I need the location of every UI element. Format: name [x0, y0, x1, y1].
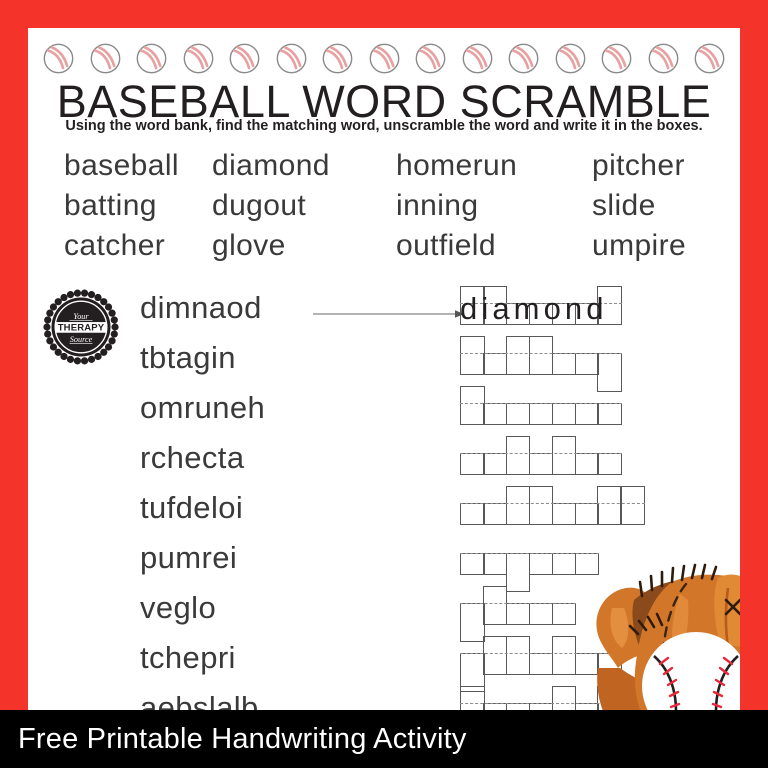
- baseball-icon: [554, 42, 587, 75]
- answer-letter-box[interactable]: [552, 503, 577, 525]
- answer-letter-box[interactable]: [552, 403, 577, 425]
- baseball-icon: [89, 42, 122, 75]
- word-bank-word: homerun: [396, 146, 564, 186]
- answer-boxes[interactable]: [460, 486, 645, 536]
- baseball-icon: [368, 42, 401, 75]
- baseball-icon: [42, 42, 75, 75]
- baseball-icon: [89, 42, 122, 75]
- baseball-icon: [321, 42, 354, 75]
- baseball-decoration-strip: [42, 36, 726, 80]
- answer-letter-box[interactable]: [575, 353, 600, 375]
- answer-letter-box[interactable]: [529, 403, 554, 425]
- baseball-icon: [647, 42, 680, 75]
- word-bank-column: baseballbattingcatcher: [36, 146, 212, 266]
- answer-letter-box[interactable]: [552, 436, 577, 475]
- word-bank: baseballbattingcatcherdiamonddugoutglove…: [36, 146, 736, 266]
- puzzle-row: dimnaoddiamond: [28, 286, 740, 336]
- puzzle-row: tbtagin: [28, 336, 740, 386]
- word-bank-word: baseball: [64, 146, 212, 186]
- answer-letter-box[interactable]: [529, 703, 554, 710]
- baseball-icon: [414, 42, 447, 75]
- word-bank-column: diamonddugoutglove: [212, 146, 388, 266]
- filled-answer-word: diamond: [460, 292, 608, 326]
- glove-svg: [568, 548, 740, 710]
- answer-letter-box[interactable]: [506, 603, 531, 625]
- baseball-icon: [600, 42, 633, 75]
- answer-letter-box[interactable]: [575, 403, 600, 425]
- answer-letter-box[interactable]: [506, 336, 531, 375]
- baseball-icon: [42, 42, 75, 75]
- scrambled-word: dimnaod: [140, 286, 262, 330]
- answer-letter-box[interactable]: [506, 486, 531, 525]
- answer-letter-box[interactable]: [460, 453, 485, 475]
- baseball-icon: [135, 42, 168, 75]
- answer-letter-box[interactable]: [483, 586, 508, 625]
- baseball-icon: [507, 42, 540, 75]
- scrambled-word: omruneh: [140, 386, 265, 430]
- word-bank-word: slide: [592, 186, 736, 226]
- word-bank-word: diamond: [212, 146, 388, 186]
- answer-letter-box[interactable]: [506, 403, 531, 425]
- answer-letter-box[interactable]: [460, 336, 485, 375]
- word-bank-word: umpire: [592, 226, 736, 266]
- word-bank-word: glove: [212, 226, 388, 266]
- word-bank-word: outfield: [396, 226, 564, 266]
- puzzle-row: omruneh: [28, 386, 740, 436]
- baseball-glove-illustration: [568, 548, 740, 710]
- answer-letter-box[interactable]: [483, 403, 508, 425]
- baseball-icon: [182, 42, 215, 75]
- worksheet-page: BASEBALL WORD SCRAMBLE Using the word ba…: [28, 28, 740, 710]
- scrambled-word: pumrei: [140, 536, 237, 580]
- baseball-icon: [461, 42, 494, 75]
- arrow-svg: [313, 309, 465, 319]
- footer-text: Free Printable Handwriting Activity: [0, 723, 467, 756]
- answer-letter-box[interactable]: [597, 453, 622, 475]
- arrow-right-icon: [313, 306, 465, 316]
- answer-letter-box[interactable]: [620, 486, 645, 525]
- answer-letter-box[interactable]: [483, 503, 508, 525]
- answer-letter-box[interactable]: [529, 603, 554, 625]
- answer-boxes[interactable]: [460, 386, 622, 436]
- answer-boxes[interactable]: [460, 436, 622, 486]
- answer-letter-box[interactable]: [460, 686, 485, 710]
- answer-boxes[interactable]: [460, 586, 576, 636]
- puzzle-row: tufdeloi: [28, 486, 740, 536]
- answer-letter-box[interactable]: [460, 553, 485, 575]
- scrambled-word: aebslalb: [140, 686, 259, 710]
- answer-letter-box[interactable]: [575, 503, 600, 525]
- word-bank-word: dugout: [212, 186, 388, 226]
- answer-letter-box[interactable]: [597, 403, 622, 425]
- answer-letter-box[interactable]: [460, 386, 485, 425]
- baseball-icon: [414, 42, 447, 75]
- answer-letter-box[interactable]: [483, 453, 508, 475]
- page-subtitle: Using the word bank, find the matching w…: [28, 118, 740, 134]
- puzzle-row: rchecta: [28, 436, 740, 486]
- scrambled-word: tchepri: [140, 636, 236, 680]
- scrambled-word: rchecta: [140, 436, 244, 480]
- answer-letter-box[interactable]: [529, 336, 554, 375]
- scrambled-word: tbtagin: [140, 336, 236, 380]
- worksheet-root: BASEBALL WORD SCRAMBLE Using the word ba…: [0, 0, 768, 768]
- answer-boxes[interactable]: [460, 336, 622, 386]
- word-bank-word: batting: [64, 186, 212, 226]
- baseball-icon: [135, 42, 168, 75]
- scrambled-word: tufdeloi: [140, 486, 243, 530]
- baseball-icon: [228, 42, 261, 75]
- baseball-icon: [182, 42, 215, 75]
- baseball-icon: [554, 42, 587, 75]
- answer-letter-box[interactable]: [460, 503, 485, 525]
- baseball-icon: [275, 42, 308, 75]
- answer-letter-box[interactable]: [483, 703, 508, 710]
- baseball-icon: [461, 42, 494, 75]
- answer-letter-box[interactable]: [506, 436, 531, 475]
- answer-letter-box[interactable]: [529, 653, 554, 675]
- answer-letter-box[interactable]: [597, 486, 622, 525]
- scrambled-word: veglo: [140, 586, 216, 630]
- baseball-icon: [228, 42, 261, 75]
- word-bank-word: inning: [396, 186, 564, 226]
- answer-letter-box[interactable]: [506, 703, 531, 710]
- answer-letter-box[interactable]: [529, 553, 554, 575]
- baseball-icon: [693, 42, 726, 75]
- answer-letter-box[interactable]: [529, 453, 554, 475]
- baseball-icon: [647, 42, 680, 75]
- baseball-icon: [507, 42, 540, 75]
- footer-banner: Free Printable Handwriting Activity: [0, 710, 768, 768]
- word-bank-word: pitcher: [592, 146, 736, 186]
- baseball-icon: [321, 42, 354, 75]
- word-bank-word: catcher: [64, 226, 212, 266]
- answer-letter-box[interactable]: [506, 636, 531, 675]
- baseball-icon: [600, 42, 633, 75]
- answer-letter-box[interactable]: [575, 453, 600, 475]
- word-bank-column: homeruninningoutfield: [388, 146, 564, 266]
- word-bank-column: pitcherslideumpire: [564, 146, 736, 266]
- baseball-icon: [275, 42, 308, 75]
- answer-letter-box[interactable]: [529, 486, 554, 525]
- answer-letter-box[interactable]: [483, 553, 508, 575]
- baseball-icon: [693, 42, 726, 75]
- answer-letter-box[interactable]: [483, 353, 508, 375]
- baseball-icon: [368, 42, 401, 75]
- answer-letter-box[interactable]: [552, 353, 577, 375]
- answer-letter-box[interactable]: [483, 636, 508, 675]
